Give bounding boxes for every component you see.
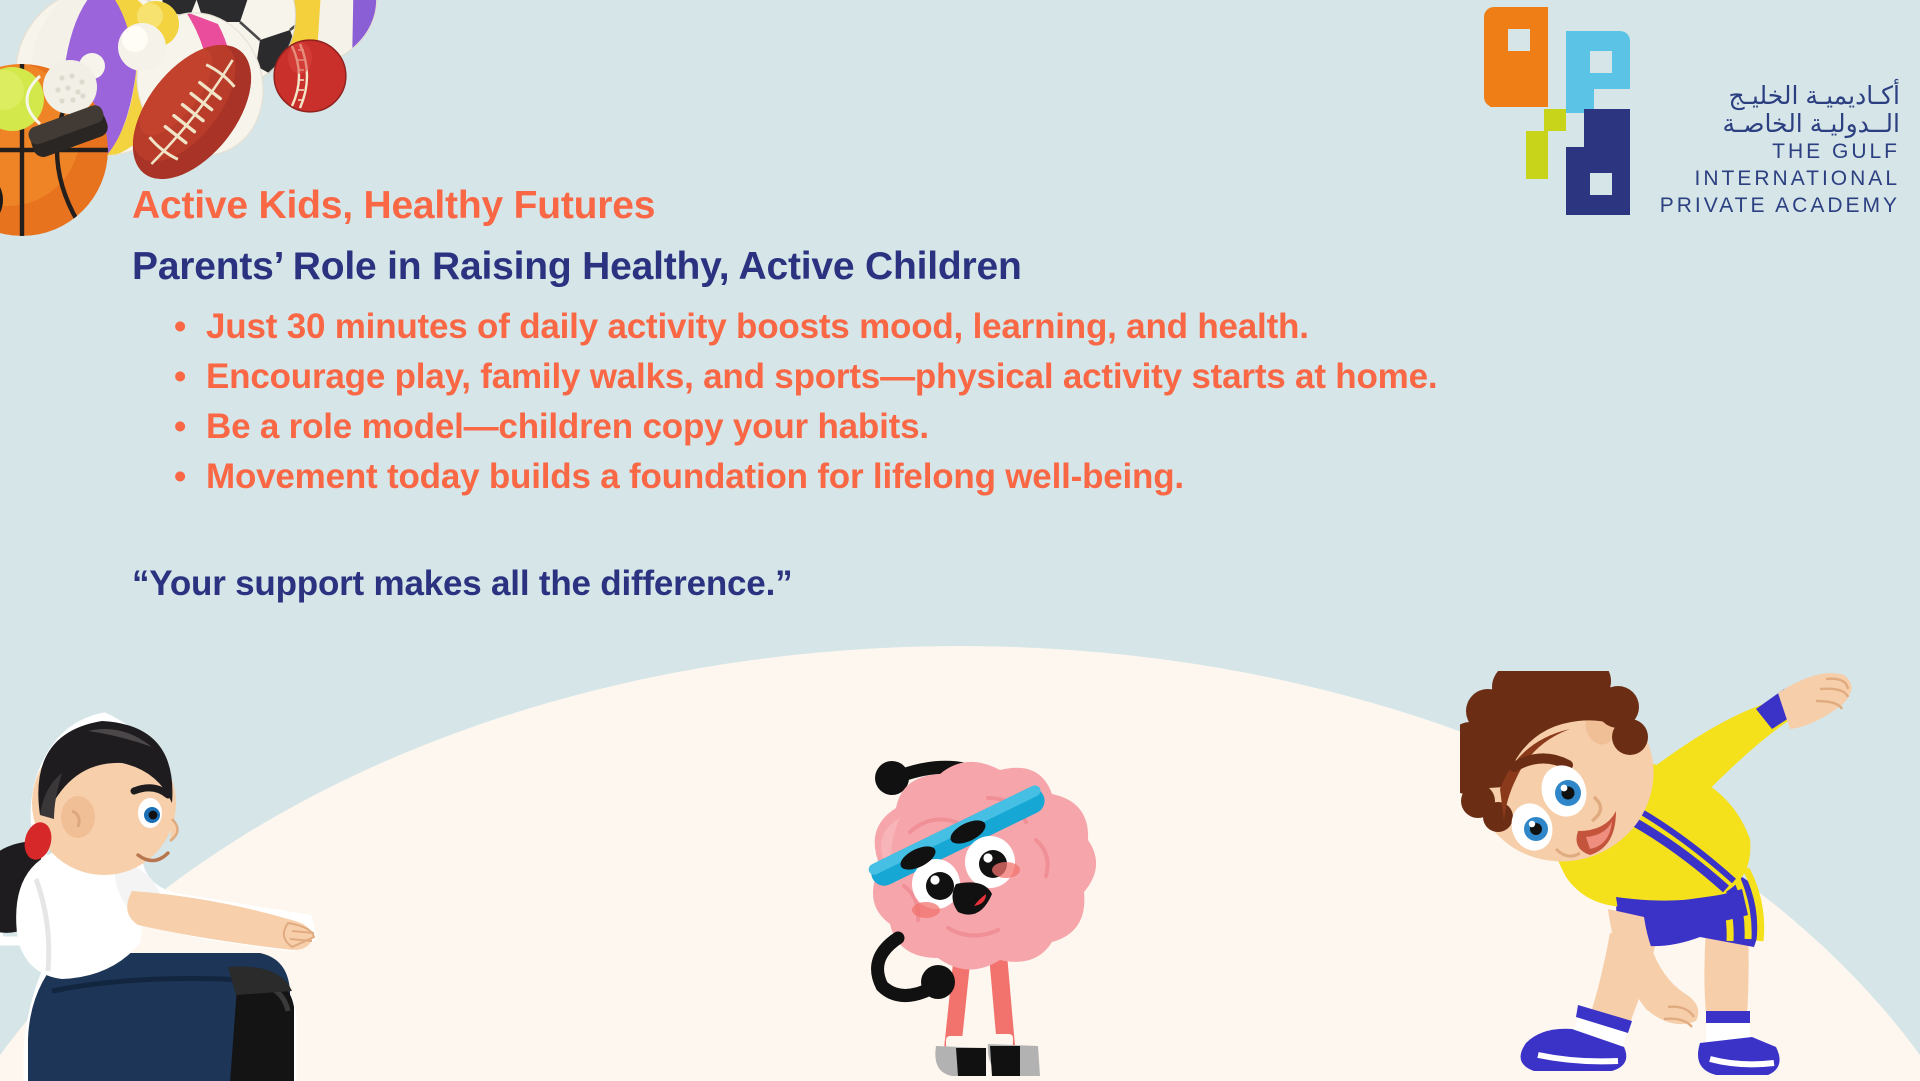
page-subtitle: Parents’ Role in Raising Healthy, Active…	[132, 247, 1832, 286]
school-logo: أكـاديميـة الخليـج الــدوليـة الخاصـة TH…	[1482, 6, 1900, 219]
boy-stretching-illustration	[1460, 671, 1920, 1081]
logo-english-line-3: PRIVATE ACADEMY	[1660, 192, 1900, 219]
brain-mascot-illustration	[840, 736, 1130, 1081]
logo-english-line-2: INTERNATIONAL	[1695, 165, 1900, 192]
list-item-label: Just 30 minutes of daily activity boosts…	[206, 307, 1309, 346]
bullet-marker-icon: •	[174, 302, 186, 352]
logo-arabic-line-1: أكـاديميـة الخليـج	[1728, 82, 1900, 110]
list-item-label: Be a role model—children copy your habit…	[206, 407, 929, 446]
girl-stretching-illustration	[0, 691, 412, 1081]
list-item-label: Movement today builds a foundation for l…	[206, 457, 1184, 496]
bullet-marker-icon: •	[174, 452, 186, 502]
logo-english-line-1: THE GULF	[1772, 138, 1900, 165]
tips-list: • Just 30 minutes of daily activity boos…	[132, 302, 1832, 502]
list-item: • Encourage play, family walks, and spor…	[174, 352, 1832, 402]
slide-canvas: 8 Active Kids, Healthy Futures Parents’ …	[0, 0, 1920, 1081]
logo-wordmark: أكـاديميـة الخليـج الــدوليـة الخاصـة TH…	[1660, 6, 1900, 219]
list-item-label: Encourage play, family walks, and sports…	[206, 357, 1437, 396]
bullet-marker-icon: •	[174, 402, 186, 452]
list-item: • Just 30 minutes of daily activity boos…	[174, 302, 1832, 352]
list-item: • Be a role model—children copy your hab…	[174, 402, 1832, 452]
content-text-block: Active Kids, Healthy Futures Parents’ Ro…	[132, 186, 1832, 604]
bullet-marker-icon: •	[174, 352, 186, 402]
logo-arabic-line-2: الــدوليـة الخاصـة	[1722, 110, 1900, 138]
list-item: • Movement today builds a foundation for…	[174, 452, 1832, 502]
closing-quote: “Your support makes all the difference.”	[132, 564, 1832, 604]
logo-mark-icon	[1482, 7, 1642, 219]
